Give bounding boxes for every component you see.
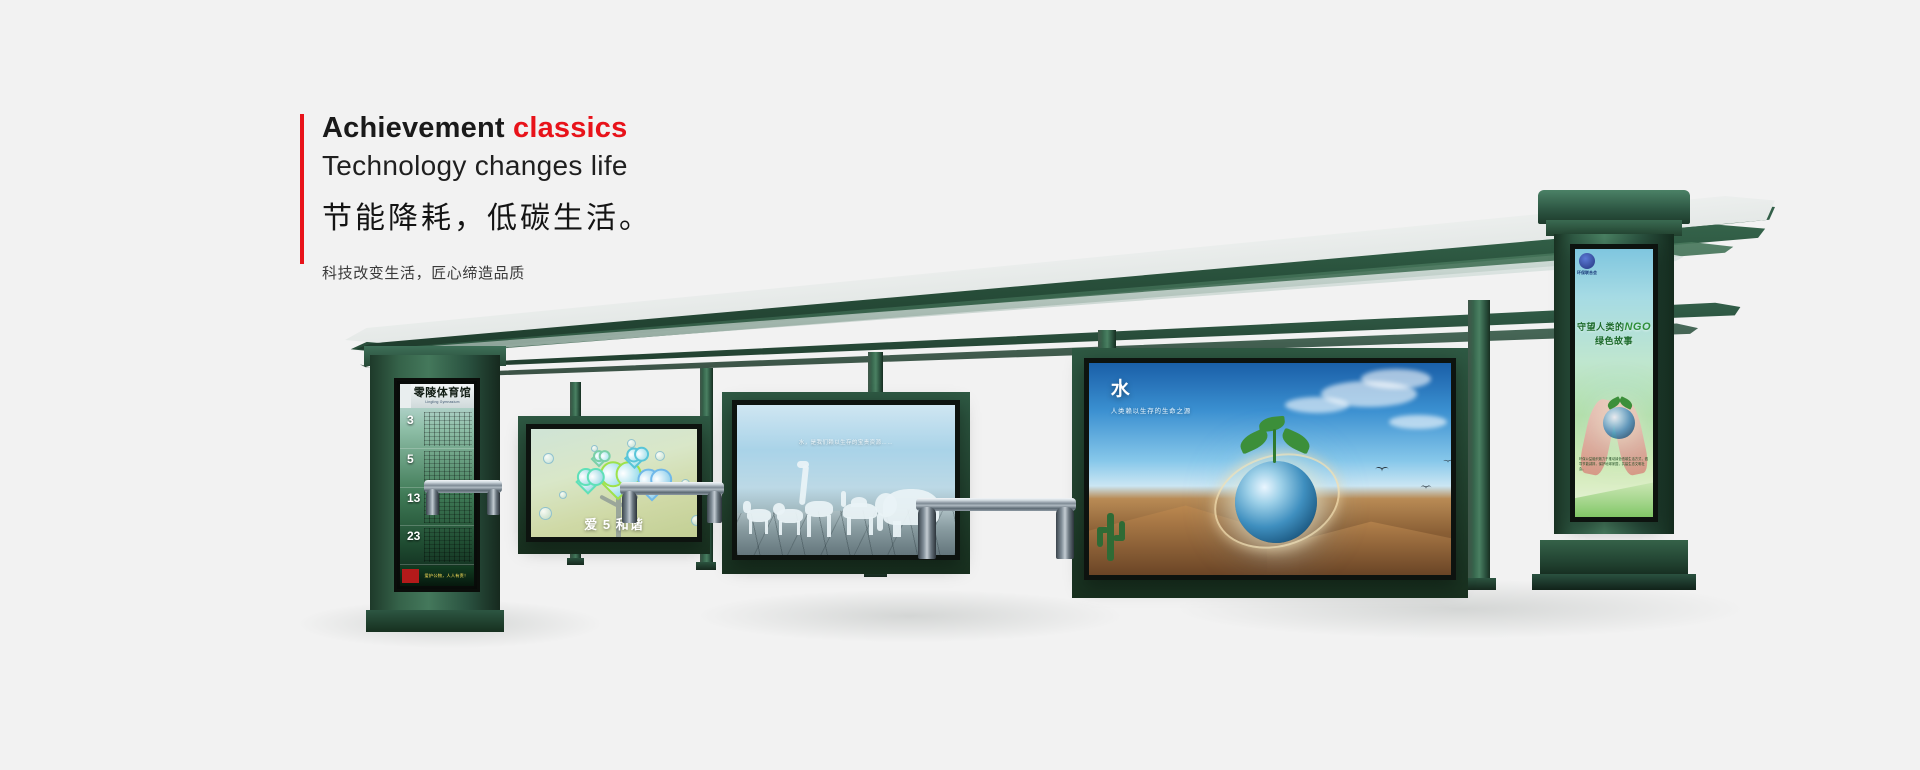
cloud-decor — [1389, 415, 1447, 429]
giraffe-leg — [807, 515, 811, 537]
water-title: 水 — [1111, 380, 1130, 399]
station-name: 零陵体育馆 — [414, 388, 472, 399]
ngo-logo-label: 环保联合会 — [1577, 270, 1597, 276]
bench — [424, 480, 502, 514]
lion-head — [773, 503, 785, 515]
giraffe-neck — [799, 465, 809, 505]
support-post-1-base — [567, 558, 584, 565]
giraffe-head — [797, 461, 809, 468]
schedule-header: 零陵体育馆 Lingling Gymnasium — [411, 384, 474, 408]
lion-leg — [779, 521, 782, 535]
schedule-row[interactable]: 23 — [400, 526, 474, 565]
camel-hump — [851, 497, 867, 507]
station-name-pinyin: Lingling Gymnasium — [425, 400, 459, 404]
horse-head — [743, 501, 751, 513]
bubble-decor — [543, 453, 554, 464]
bird-icon — [1443, 460, 1453, 464]
lightbox-water[interactable]: 水 人类赖以生存的生命之源 — [1084, 358, 1456, 580]
route-number: 23 — [407, 529, 420, 543]
sprout-leaf — [1258, 416, 1285, 433]
water-subtitle: 人类赖以生存的生命之源 — [1111, 405, 1191, 415]
camel-leg — [869, 517, 873, 535]
route-number: 13 — [407, 491, 420, 505]
tower-poster[interactable]: 环保联合会 守望人类的NGO 绿色故事 环保公益组织致力于推动绿色低碳生活方式，… — [1570, 244, 1658, 522]
giraffe-leg — [827, 515, 831, 537]
tower-cap — [1538, 190, 1690, 224]
support-post-2-base — [696, 562, 716, 570]
bench — [916, 498, 1076, 550]
route-number: 3 — [407, 413, 414, 427]
ngo-body-text: 环保公益组织致力于推动绿色低碳生活方式，倡导节能减排，保护地球家园，共建生态文明… — [1579, 457, 1649, 511]
sprout-leaf — [1279, 428, 1313, 455]
bench-leg — [918, 507, 936, 559]
camel-leg — [847, 517, 851, 535]
bench-seat — [916, 498, 1076, 511]
water-artwork: 水 人类赖以生存的生命之源 — [1089, 363, 1451, 575]
camel-neck — [841, 491, 846, 507]
ngo-title: 守望人类的NGO 绿色故事 — [1575, 319, 1653, 349]
ngo-acronym: NGO — [1624, 321, 1651, 333]
heart-shape — [575, 469, 600, 494]
schedule-cabinet-base — [366, 610, 504, 632]
ngo-title-line2: 绿色故事 — [1595, 336, 1633, 346]
cactus-arm — [1119, 521, 1125, 541]
animals-caption: 水，是我们赖以生存的宝贵资源…… — [737, 438, 955, 446]
bench-leg — [707, 491, 722, 523]
route-stop-grid — [424, 528, 472, 562]
schedule-row[interactable]: 3 — [400, 410, 474, 449]
elephant-trunk — [877, 513, 883, 531]
bench — [620, 482, 724, 524]
bench-leg — [622, 491, 637, 523]
route-number: 5 — [407, 452, 414, 466]
bubble-decor — [559, 491, 567, 499]
bubble-decor — [655, 451, 665, 461]
bus-shelter: 零陵体育馆 Lingling Gymnasium 3 5 13 23 — [0, 0, 1920, 770]
lion-leg — [797, 521, 800, 535]
sprout-bulb — [1603, 407, 1635, 439]
cloud-decor — [1361, 369, 1431, 389]
bench-leg — [426, 489, 439, 515]
horse-leg — [765, 520, 768, 534]
ngo-logo-icon — [1579, 253, 1595, 269]
ngo-paragraph: 环保公益组织致力于推动绿色低碳生活方式，倡导节能减排，保护地球家园，共建生态文明… — [1579, 457, 1649, 471]
schedule-notice: 爱护公物，人人有责！ — [419, 573, 474, 579]
cloud-decor — [1285, 397, 1349, 413]
bird-icon — [1420, 486, 1431, 491]
info-tower: 环保联合会 守望人类的NGO 绿色故事 环保公益组织致力于推动绿色低碳生活方式，… — [1554, 190, 1674, 580]
ngo-title-line1: 守望人类的 — [1577, 322, 1625, 332]
horse-leg — [749, 520, 752, 534]
earth-globe — [1235, 461, 1317, 543]
schedule-footer: 爱护公物，人人有责！ — [400, 566, 474, 586]
cactus-arm — [1097, 527, 1103, 547]
bench-leg — [487, 489, 500, 515]
transit-badge — [402, 569, 419, 583]
ground-shadow-mid — [700, 590, 1120, 642]
product-render-scene: Achievement classics Technology changes … — [0, 0, 1920, 770]
bird-icon — [1375, 467, 1389, 473]
bench-leg — [1056, 507, 1074, 559]
ngo-artwork: 环保联合会 守望人类的NGO 绿色故事 环保公益组织致力于推动绿色低碳生活方式，… — [1575, 249, 1653, 517]
sprout-stem — [1273, 429, 1276, 463]
tower-base-plinth — [1532, 574, 1696, 590]
route-stop-grid — [424, 412, 472, 446]
elephant-leg — [893, 521, 901, 537]
support-post-5 — [1468, 300, 1490, 585]
